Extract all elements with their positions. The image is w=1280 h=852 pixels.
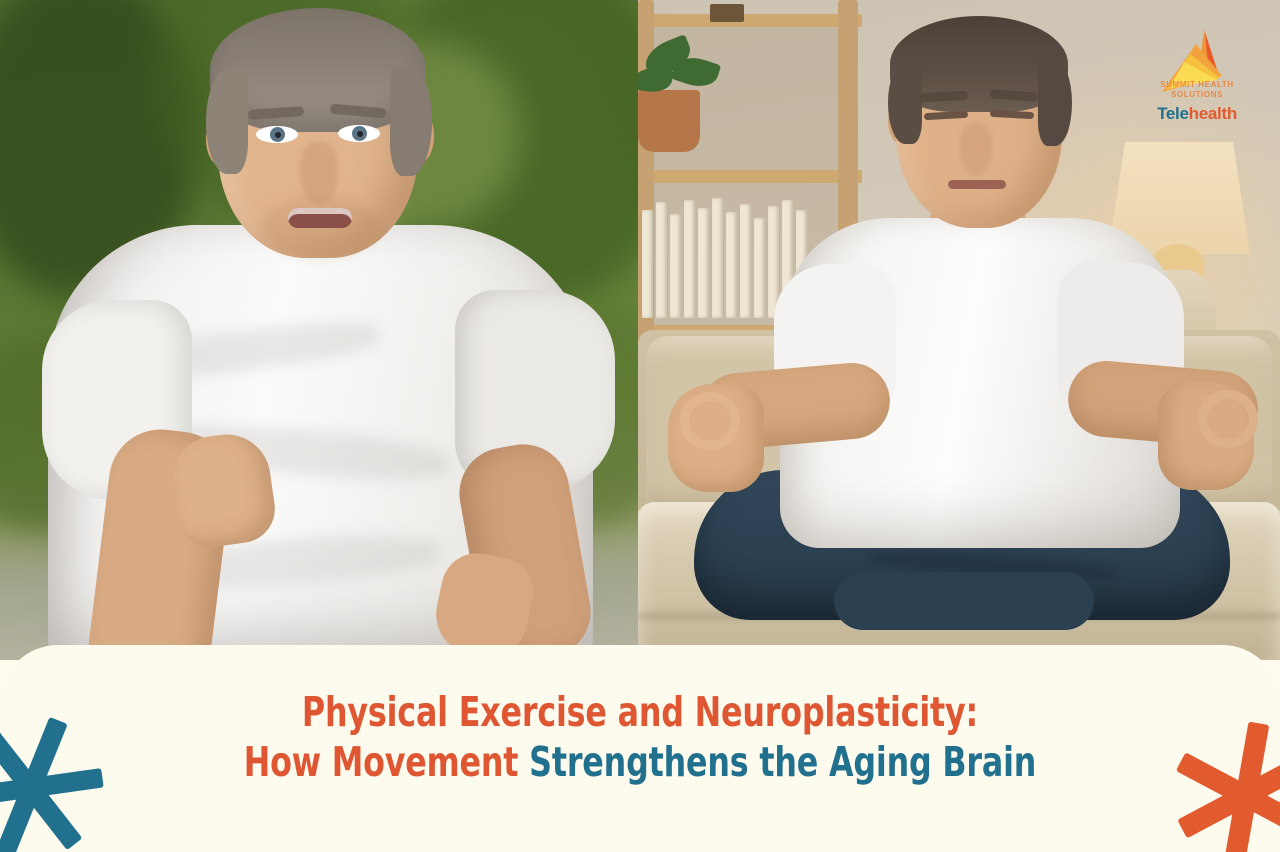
shelf-box [710,4,744,22]
plant-pot [638,90,700,152]
book [642,210,653,318]
title-block: Physical Exercise and Neuroplasticity: H… [0,688,1280,788]
title-line-2-teal: Strengthens the Aging Brain [529,738,1036,786]
logo-brand-tele: Tele [1157,104,1189,123]
book [726,212,737,318]
shelf-board [638,14,862,27]
logo-company-name: SUMMIT HEALTH SOLUTIONS [1134,80,1260,99]
book [754,218,765,318]
runner-pupil-left [275,132,281,138]
shelf-board [638,170,862,183]
runner-hair-side [206,70,248,174]
photo-left-running-man [0,0,638,660]
meditator-hair-side [1038,60,1072,146]
meditator-hair-side [888,62,922,144]
meditator-shin [834,572,1094,630]
runner-nose [300,142,338,204]
meditator-nose [960,122,992,176]
photo-strip [0,0,1280,660]
logo-company-line-2: SOLUTIONS [1134,90,1260,100]
logo-company-line-1: SUMMIT HEALTH [1134,80,1260,90]
brand-logo[interactable]: SUMMIT HEALTH SOLUTIONS Telehealth [1134,28,1260,128]
title-line-2: How Movement Strengthens the Aging Brain [90,736,1191,788]
book [656,202,667,318]
runner-hair-side [390,66,432,176]
book [670,214,681,318]
meditator-mouth [948,180,1006,189]
book [684,200,695,318]
runner-mouth [288,208,352,228]
poster-banner: SUMMIT HEALTH SOLUTIONS Telehealth Physi… [0,0,1280,852]
book [712,198,723,318]
mudra-finger-circle-right [1198,390,1258,448]
title-line-1: Physical Exercise and Neuroplasticity: [90,688,1191,736]
book [698,208,709,318]
logo-brand-health: health [1189,104,1237,123]
title-line-2-orange: How Movement [244,738,529,786]
book [740,204,751,318]
logo-brand-word: Telehealth [1134,104,1260,124]
runner-figure [0,0,638,660]
runner-pupil-right [357,131,363,137]
mudra-finger-circle-left [680,392,740,450]
